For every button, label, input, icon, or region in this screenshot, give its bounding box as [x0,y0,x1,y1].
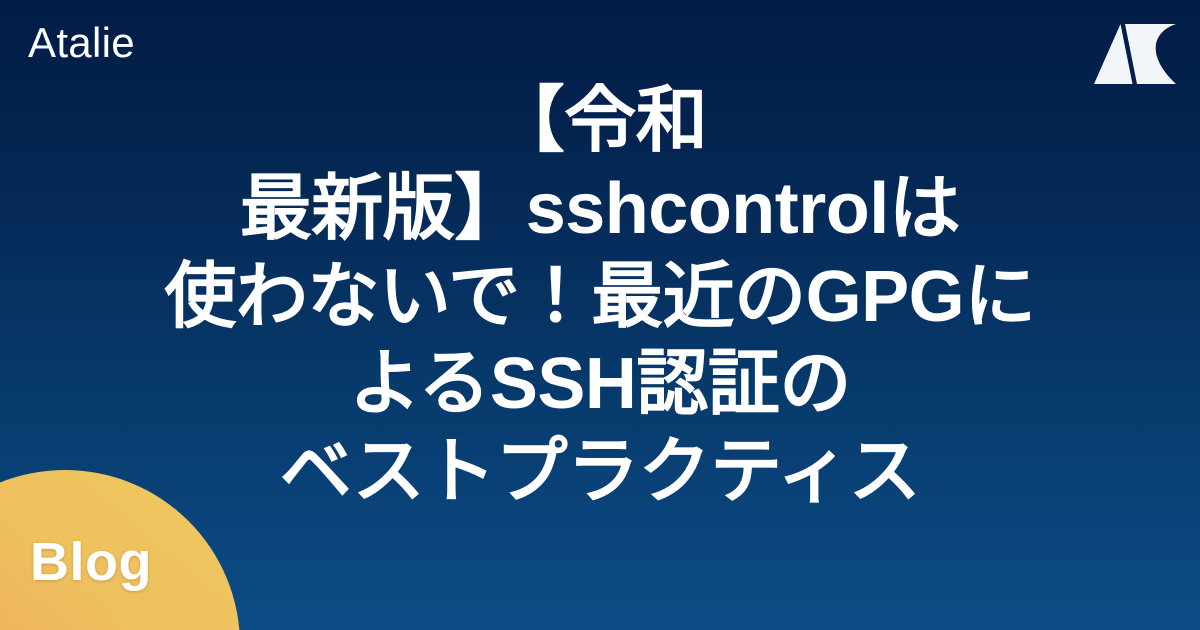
title-line: 【令和 [40,78,1160,166]
title-line: 使わないで！最近のGPGに [40,254,1160,342]
page-title: 【令和 最新版】sshcontrolは 使わないで！最近のGPGに よるSSH認… [0,78,1200,517]
ogp-card: Blog Atalie 【令和 最新版】sshcontrolは 使わないで！最近… [0,0,1200,630]
title-line: よるSSH認証の [40,341,1160,429]
site-name: Atalie [28,20,135,66]
title-line: 最新版】sshcontrolは [40,166,1160,254]
blog-badge-label: Blog [30,535,152,589]
title-line: ベストプラクティス [40,429,1160,517]
